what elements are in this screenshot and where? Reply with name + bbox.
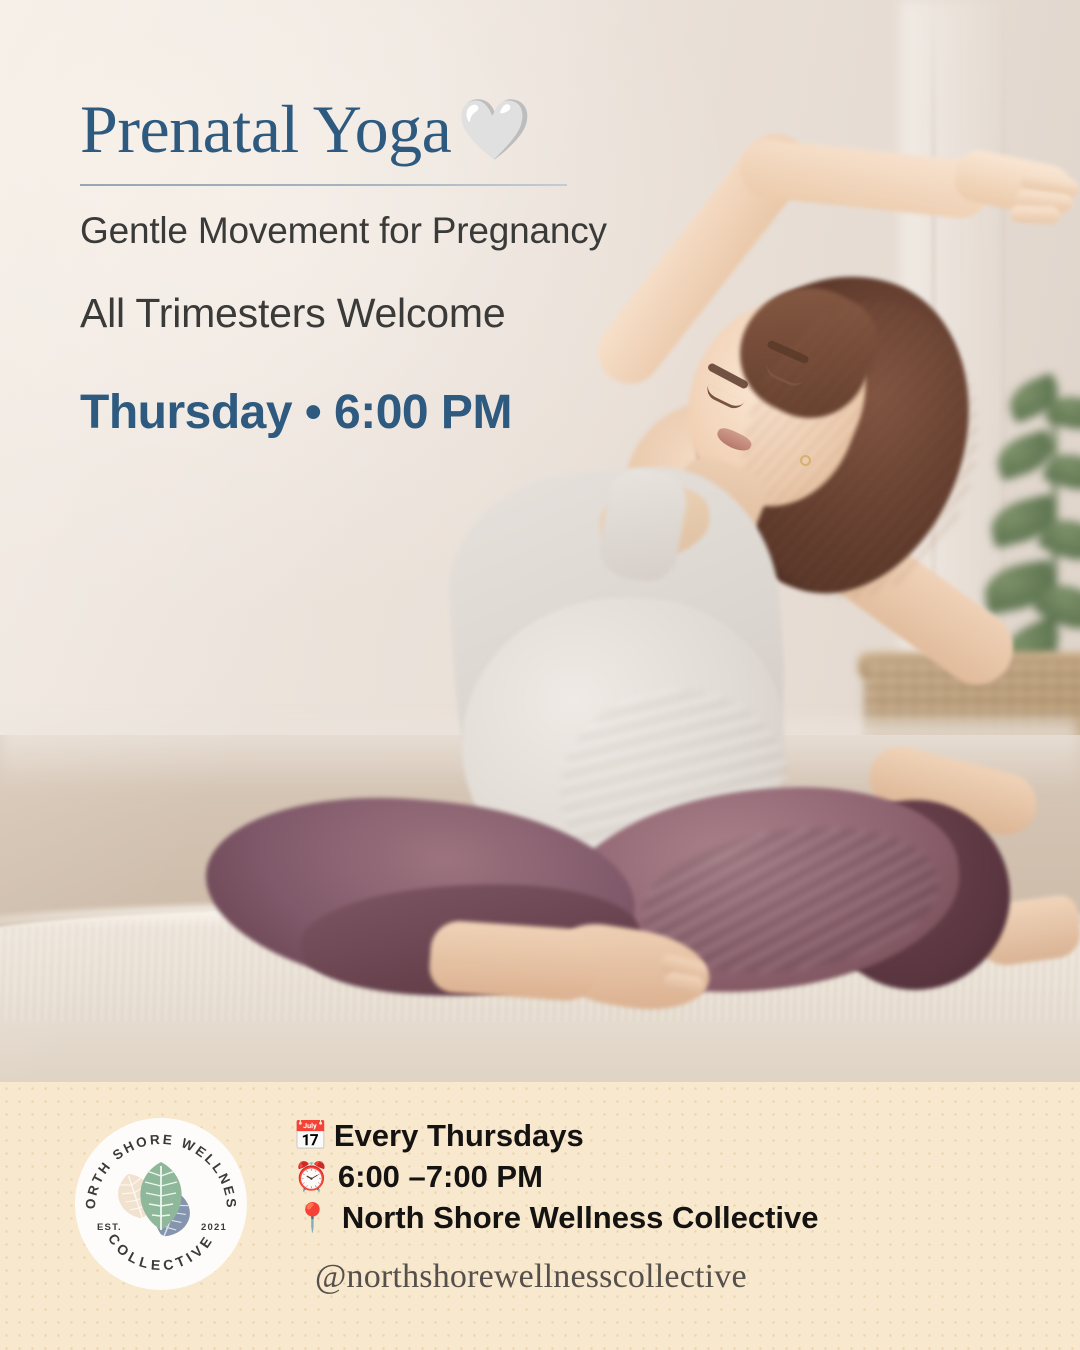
alarm-clock-icon: ⏰ — [294, 1159, 329, 1196]
earring — [800, 455, 811, 466]
headline-block: Prenatal Yoga 🤍 Gentle Movement for Preg… — [80, 95, 700, 440]
schedule-text: Every Thursdays — [334, 1116, 584, 1157]
location-line: 📍 North Shore Wellness Collective — [293, 1198, 1053, 1239]
white-heart-icon: 🤍 — [457, 100, 531, 160]
poster-canvas: Prenatal Yoga 🤍 Gentle Movement for Preg… — [0, 0, 1080, 1350]
logo-arc-bottom-text: COLLECTIVE — [105, 1231, 217, 1274]
time-line: ⏰ 6:00 –7:00 PM — [293, 1157, 1053, 1198]
logo-year-label: 2021 — [201, 1222, 227, 1233]
time-text: 6:00 –7:00 PM — [338, 1157, 543, 1198]
social-handle[interactable]: @northshorewellnesscollective — [315, 1258, 1053, 1296]
logo-artwork: NORTH SHORE WELLNESS COLLECTIVE EST. 202… — [75, 1118, 247, 1290]
subtitle: Gentle Movement for Pregnancy — [80, 210, 700, 252]
resting-hand — [428, 919, 603, 1003]
calendar-icon: 📅 — [293, 1118, 328, 1155]
page-title: Prenatal Yoga 🤍 — [80, 95, 700, 164]
footer-details: 📅 Every Thursdays ⏰ 6:00 –7:00 PM 📍 Nort… — [293, 1116, 1053, 1296]
day-time-line: Thursday • 6:00 PM — [80, 385, 700, 440]
finger — [1010, 205, 1061, 224]
map-pin-icon: 📍 — [295, 1200, 330, 1237]
welcome-line: All Trimesters Welcome — [80, 290, 700, 337]
location-text: North Shore Wellness Collective — [342, 1198, 819, 1239]
page-title-text: Prenatal Yoga — [80, 95, 451, 164]
logo-est-label: EST. — [97, 1222, 122, 1233]
title-divider — [80, 184, 567, 186]
brand-logo[interactable]: NORTH SHORE WELLNESS COLLECTIVE EST. 202… — [75, 1118, 247, 1290]
schedule-line: 📅 Every Thursdays — [293, 1116, 1053, 1157]
